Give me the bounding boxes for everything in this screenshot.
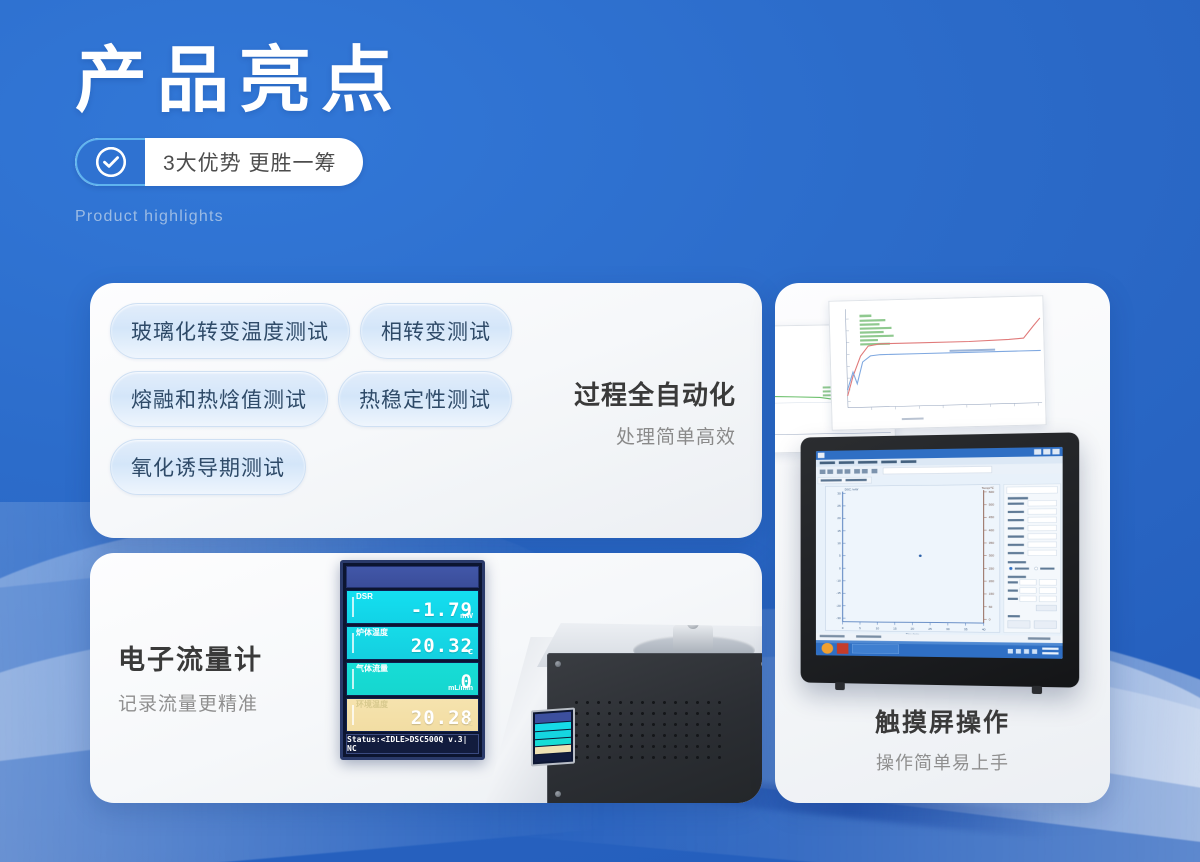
hmi-row-dsr: DSR -1.79 mW [346, 590, 479, 624]
svg-text:20: 20 [911, 627, 915, 631]
svg-text:200: 200 [989, 579, 995, 583]
instrument-screw [555, 791, 561, 797]
card-flow-meter: 电子流量计 记录流量更精准 DSR -1.79 mW 炉体温度 20.32 ℃ … [90, 553, 762, 803]
svg-text:-30: -30 [836, 616, 841, 620]
flow-caption: 电子流量计 记录流量更精准 [118, 638, 368, 716]
monitor-foot-left [835, 682, 845, 690]
svg-text:15: 15 [893, 627, 897, 631]
svg-text:Temp/℃: Temp/℃ [982, 486, 995, 490]
touch-subheading: 操作简单易上手 [775, 749, 1110, 775]
svg-text:20: 20 [837, 516, 841, 520]
features-caption: 过程全自动化 处理简单高效 [476, 375, 736, 449]
flow-heading: 电子流量计 [118, 638, 368, 677]
touchscreen-monitor[interactable]: 302520 15105 0-10-15 -20-30 DSC /mW 6005… [801, 432, 1080, 687]
card-features: 玻璃化转变温度测试 相转变测试 熔融和热焓值测试 热稳定性测试 氧化诱导期测试 … [90, 283, 762, 538]
feature-pill[interactable]: 氧化诱导期测试 [110, 439, 306, 495]
report-sheet-dual-chart [828, 295, 1046, 431]
svg-text:250: 250 [989, 566, 995, 570]
page-header: 产品亮点 3大优势 更胜一筹 Product highlights [75, 42, 403, 226]
hmi-value: -1.79 [356, 601, 473, 621]
feature-pill-row-1: 玻璃化转变温度测试 相转变测试 [110, 303, 560, 359]
svg-text:-10: -10 [836, 579, 841, 583]
svg-text:35: 35 [964, 627, 968, 631]
instrument-vent-holes [571, 697, 721, 761]
feature-pill[interactable]: 熔融和热焓值测试 [110, 371, 328, 427]
instrument-knob [687, 617, 699, 629]
svg-text:-20: -20 [836, 604, 841, 608]
svg-text:25: 25 [837, 504, 841, 508]
flow-subheading: 记录流量更精准 [118, 689, 368, 716]
svg-text:600: 600 [989, 490, 995, 494]
hmi-status-bar: Status:<IDLE>DSC500Q v.3| NC [346, 734, 479, 754]
badge-icon-area [75, 138, 145, 186]
svg-text:40: 40 [982, 627, 986, 631]
hmi-row-furnace-temp: 炉体温度 20.32 ℃ [346, 626, 479, 660]
highlight-badge: 3大优势 更胜一筹 [75, 138, 363, 186]
hmi-value: 20.32 [356, 637, 473, 657]
svg-text:30: 30 [837, 491, 841, 495]
instrument-screw [555, 661, 561, 667]
subtitle-english: Product highlights [75, 208, 403, 226]
instrument-screw [761, 791, 762, 797]
svg-text:15: 15 [837, 529, 841, 533]
svg-text:400: 400 [989, 528, 995, 532]
hmi-unit: mL/min [448, 685, 473, 692]
instrument-front-panel [547, 653, 762, 803]
svg-text:350: 350 [989, 541, 995, 545]
hmi-unit: ℃ [465, 720, 473, 728]
features-heading: 过程全自动化 [476, 375, 736, 412]
svg-text:10: 10 [876, 626, 880, 630]
monitor-foot-right [1032, 686, 1042, 694]
mini-display-status [535, 753, 571, 763]
page-title: 产品亮点 [75, 42, 403, 118]
feature-pill[interactable]: 相转变测试 [360, 303, 512, 359]
badge-label: 3大优势 更胜一筹 [145, 138, 363, 186]
touch-heading: 触摸屏操作 [775, 703, 1110, 739]
card-touchscreen: 302520 15105 0-10-15 -20-30 DSC /mW 6005… [775, 283, 1110, 803]
svg-text:-15: -15 [836, 591, 841, 595]
svg-text:DSC /mW: DSC /mW [845, 488, 859, 492]
touchscreen-screen[interactable]: 302520 15105 0-10-15 -20-30 DSC /mW 6005… [816, 447, 1063, 659]
svg-text:450: 450 [989, 515, 995, 519]
hmi-header-bar [346, 566, 479, 588]
check-circle-icon [96, 147, 126, 177]
hmi-row-gas-flow: 气体流量 0 mL/min [346, 662, 479, 696]
instrument-screw [761, 661, 762, 667]
dsc-instrument-image [485, 605, 762, 803]
hmi-display-panel: DSR -1.79 mW 炉体温度 20.32 ℃ 气体流量 0 mL/min … [340, 560, 485, 760]
svg-text:300: 300 [989, 554, 995, 558]
svg-text:25: 25 [928, 627, 932, 631]
hmi-row-ambient-temp: 环境温度 20.28 ℃ [346, 698, 479, 732]
svg-text:500: 500 [989, 503, 995, 507]
hmi-label: 气体流量 [356, 665, 473, 673]
hmi-unit: ℃ [465, 648, 473, 656]
feature-pill[interactable]: 玻璃化转变温度测试 [110, 303, 350, 359]
touch-caption: 触摸屏操作 操作简单易上手 [775, 703, 1110, 775]
hmi-unit: mW [460, 613, 473, 620]
svg-text:30: 30 [946, 627, 950, 631]
svg-text:60: 60 [989, 605, 993, 609]
svg-text:150: 150 [989, 592, 995, 596]
features-subheading: 处理简单高效 [476, 422, 736, 449]
instrument-mini-display [531, 707, 575, 766]
svg-text:10: 10 [837, 541, 841, 545]
hmi-value: 20.28 [356, 709, 473, 729]
